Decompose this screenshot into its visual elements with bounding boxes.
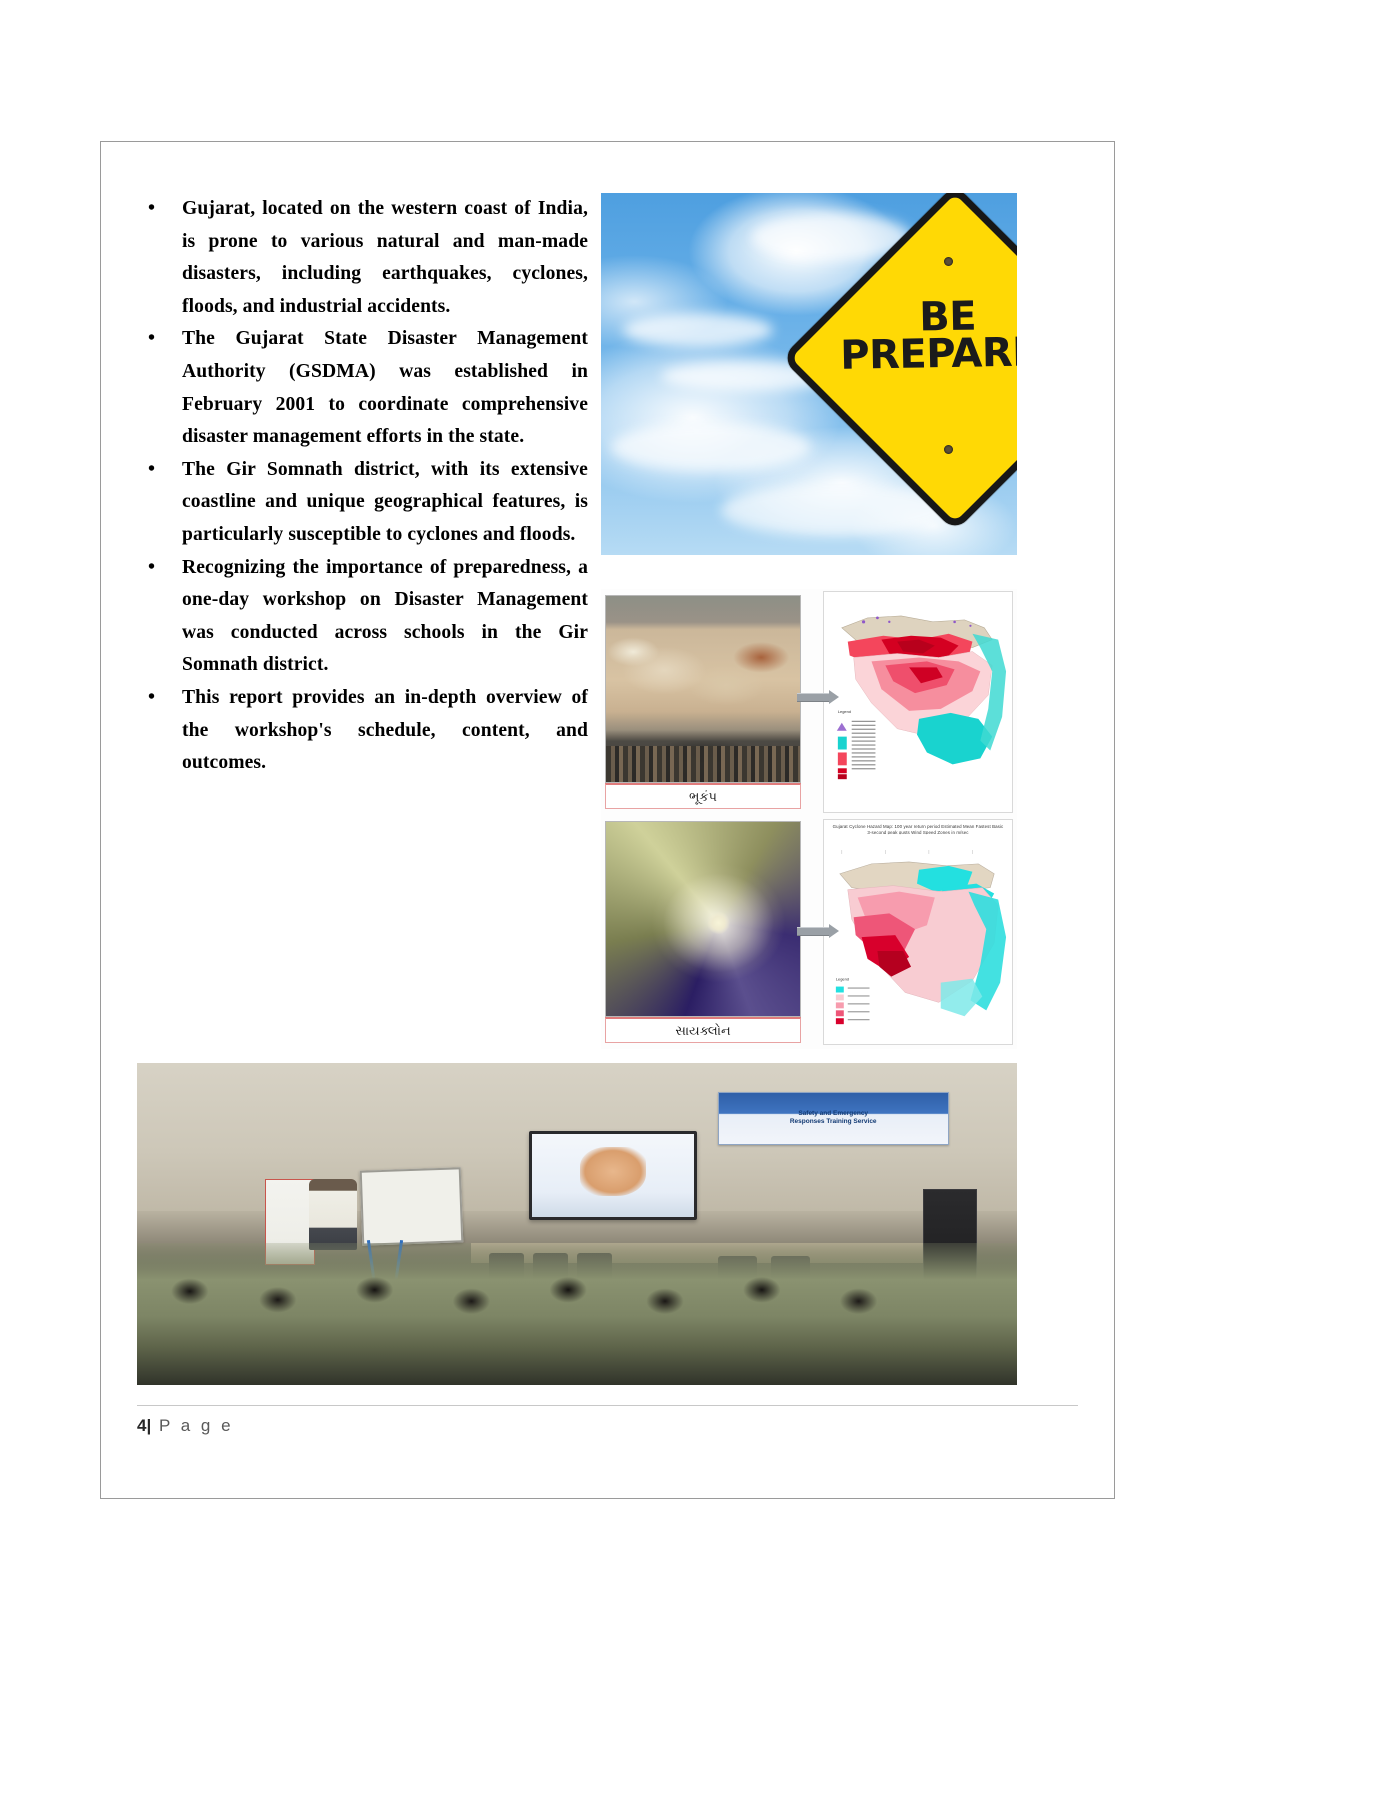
page-content: •Gujarat, located on the western coast o…: [100, 141, 1115, 1499]
list-item: •The Gir Somnath district, with its exte…: [136, 454, 588, 552]
bullet-marker-icon: •: [148, 551, 155, 584]
bullet-marker-icon: •: [148, 453, 155, 486]
sign-text-line2: PREPARED: [840, 334, 1017, 375]
screen-map-graphic: [580, 1147, 645, 1196]
svg-text:Legend: Legend: [838, 709, 851, 714]
list-item: •Gujarat, located on the western coast o…: [136, 193, 588, 323]
footer-divider: [137, 1405, 1078, 1406]
banner-line-3: Safety and Emergency: [719, 1110, 948, 1118]
seismic-map-svg: Legend: [824, 592, 1012, 812]
connector-arrow-icon: [829, 690, 839, 704]
cyclone-caption: સાયક્લોન: [675, 1023, 730, 1039]
flipchart-whiteboard: [360, 1168, 463, 1246]
training-banner: Safety and Emergency Responses Training …: [718, 1092, 949, 1146]
cyclone-photo-card: સાયક્લોન: [605, 821, 801, 1043]
be-prepared-sign-photo: BE PREPARED: [601, 193, 1017, 555]
svg-text:Legend: Legend: [836, 977, 849, 982]
bullet-lead-text: Gujarat: [182, 198, 250, 219]
cyclone-imagery: [606, 822, 800, 1016]
bullet-list: •Gujarat, located on the western coast o…: [136, 193, 588, 780]
bullet-body-text: This report provides an in-depth overvie…: [182, 687, 588, 773]
sign-bolt-icon: [944, 445, 953, 454]
connector-line: [797, 927, 831, 936]
cyclone-map-svg: Legend: [824, 834, 1012, 1044]
earthquake-photo-card: ભૂકંપ: [605, 595, 801, 809]
bullet-body-text: Recognizing the importance of preparedne…: [182, 557, 588, 676]
footer-label: P a g e: [159, 1416, 234, 1435]
page-footer: 4| P a g e: [137, 1416, 234, 1436]
connector-line: [797, 693, 831, 702]
document-page: •Gujarat, located on the western coast o…: [0, 0, 1392, 1800]
list-item: •The Gujarat State Disaster Management A…: [136, 323, 588, 453]
connector-arrow-icon: [829, 924, 839, 938]
student-audience: [137, 1243, 1017, 1385]
bullet-marker-icon: •: [148, 322, 155, 355]
banner-text-block: Safety and Emergency Responses Training …: [719, 1110, 948, 1126]
crowd-imagery: [606, 746, 800, 782]
list-item: •Recognizing the importance of preparedn…: [136, 552, 588, 682]
cyclone-hazard-map: Gujarat Cyclone Hazard Map: 100 year ret…: [823, 819, 1013, 1045]
presenter-person: [309, 1179, 357, 1250]
sign-bolt-icon: [944, 257, 953, 266]
bullet-lead-text: The Gir Somnath district: [182, 459, 415, 480]
seismic-hazard-map: Legend: [823, 591, 1013, 813]
earthquake-caption-band: ભૂકંપ: [605, 783, 801, 809]
earthquake-photo: [605, 595, 801, 783]
road-sign: BE PREPARED: [804, 203, 1017, 533]
cyclone-photo: [605, 821, 801, 1017]
workshop-classroom-photo: Safety and Emergency Responses Training …: [137, 1063, 1017, 1385]
cyclone-caption-band: સાયક્લોન: [605, 1017, 801, 1043]
bullet-body-text: The Gujarat State Disaster Management Au…: [182, 328, 588, 447]
cyclone-map-canvas: Gujarat Cyclone Hazard Map: 100 year ret…: [824, 820, 1012, 1044]
sign-text: BE PREPARED: [839, 297, 1017, 375]
earthquake-caption: ભૂકંપ: [689, 789, 717, 805]
bullet-marker-icon: •: [148, 192, 155, 225]
cloud-wisp: [623, 313, 773, 347]
banner-line-4: Responses Training Service: [719, 1118, 948, 1126]
presentation-screen: [529, 1131, 698, 1221]
bullet-marker-icon: •: [148, 681, 155, 714]
list-item: •This report provides an in-depth overvi…: [136, 682, 588, 780]
cloud-wisp: [611, 423, 811, 471]
seismic-map-canvas: Legend: [824, 592, 1012, 812]
body-text-column: •Gujarat, located on the western coast o…: [136, 193, 588, 780]
hazard-maps-figure: ભૂકંપ સાયક્લોન: [601, 589, 1017, 1049]
footer-separator: |: [146, 1416, 151, 1435]
